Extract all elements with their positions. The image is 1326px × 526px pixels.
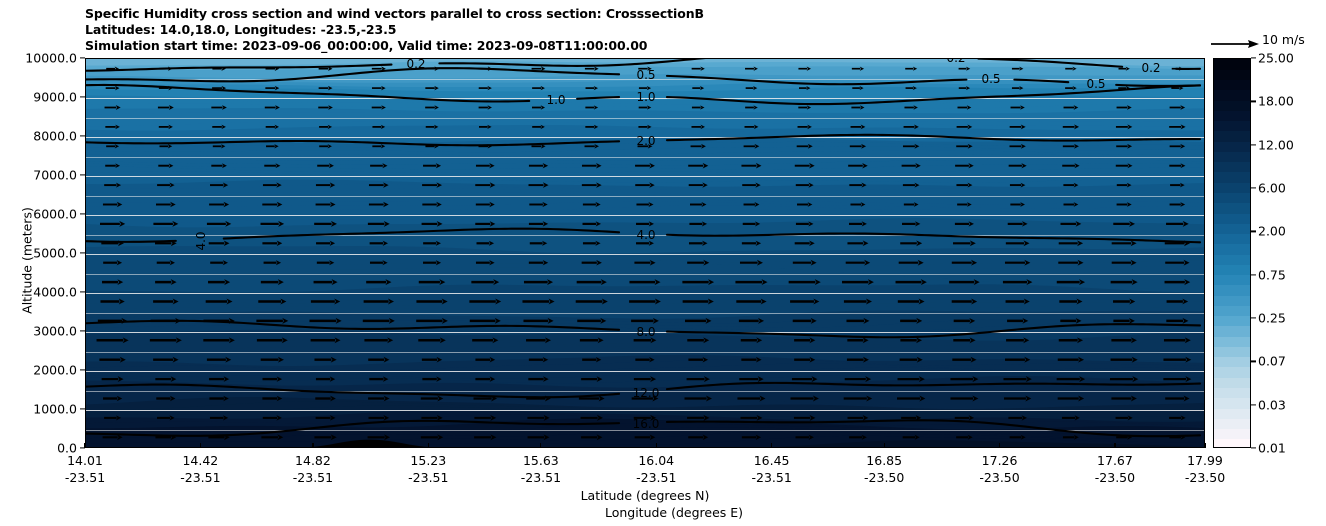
x-axis-tick: 15.23-23.51 <box>408 452 448 486</box>
x-axis-tick: 16.85-23.50 <box>864 452 904 486</box>
x-axis-tick-lat: 17.99 <box>1185 452 1225 469</box>
x-axis-tick-lat: 17.26 <box>979 452 1019 469</box>
colorbar-ticks: 0.010.030.070.250.752.006.0012.0018.0025… <box>1251 58 1326 448</box>
colorbar-tick-label: 0.03 <box>1258 397 1286 412</box>
x-axis-tick-mark <box>1204 443 1205 448</box>
x-axis-tick-mark <box>771 443 772 448</box>
colorbar-band <box>1214 69 1250 80</box>
y-axis-tick-mark <box>80 213 85 214</box>
x-axis-tick: 16.45-23.51 <box>751 452 791 486</box>
x-axis-tick-mark <box>884 443 885 448</box>
x-axis-tick: 14.82-23.51 <box>293 452 333 486</box>
colorbar-band <box>1214 131 1250 142</box>
colorbar-band <box>1214 213 1250 224</box>
colorbar-band <box>1214 172 1250 183</box>
x-axis-tick: 14.42-23.51 <box>180 452 220 486</box>
colorbar-band <box>1214 336 1250 347</box>
colorbar-tick-mark <box>1251 274 1256 275</box>
x-axis-tick-mark <box>1114 443 1115 448</box>
x-axis-tick-mark <box>540 443 541 448</box>
x-axis-tick-lon: -23.51 <box>180 469 220 486</box>
colorbar-band <box>1214 346 1250 357</box>
colorbar-band <box>1214 295 1250 306</box>
wind-key-label: 10 m/s <box>1262 32 1305 47</box>
colorbar-tick-mark <box>1251 317 1256 318</box>
x-axis-tick-lon: -23.50 <box>1095 469 1135 486</box>
y-axis-tick-label: 4000.0 <box>33 285 77 300</box>
colorbar-band <box>1214 428 1250 439</box>
y-axis-tick-mark <box>80 57 85 58</box>
colorbar-band <box>1214 398 1250 409</box>
colorbar-tick-label: 0.01 <box>1258 441 1286 456</box>
y-axis-tick-mark <box>80 135 85 136</box>
wind-vector-layer <box>86 59 1204 447</box>
colorbar-band <box>1214 192 1250 203</box>
colorbar-tick-label: 12.00 <box>1258 137 1294 152</box>
colorbar-tick-label: 25.00 <box>1258 51 1294 66</box>
colorbar-tick-mark <box>1251 187 1256 188</box>
x-axis-tick: 17.67-23.50 <box>1095 452 1135 486</box>
chart-title-block: Specific Humidity cross section and wind… <box>85 6 1205 55</box>
y-axis-tick-mark <box>80 408 85 409</box>
y-axis-tick-label: 2000.0 <box>33 363 77 378</box>
colorbar-tick-label: 18.00 <box>1258 94 1294 109</box>
y-axis: 0.01000.02000.03000.04000.05000.06000.07… <box>0 58 85 448</box>
x-axis-tick-lon: -23.50 <box>1185 469 1225 486</box>
y-axis-tick-label: 5000.0 <box>33 246 77 261</box>
colorbar-gradient <box>1213 58 1251 448</box>
y-axis-tick-label: 1000.0 <box>33 402 77 417</box>
colorbar-band <box>1214 233 1250 244</box>
y-axis-tick-mark <box>80 330 85 331</box>
colorbar-tick-label: 2.00 <box>1258 224 1286 239</box>
x-axis-tick-lon: -23.51 <box>408 469 448 486</box>
x-axis-tick-mark <box>999 443 1000 448</box>
x-axis-tick-lon: -23.50 <box>864 469 904 486</box>
y-axis-tick-mark <box>80 252 85 253</box>
x-axis-label-lon: Longitude (degrees E) <box>85 504 1205 521</box>
colorbar-band <box>1214 80 1250 91</box>
colorbar-tick-mark <box>1251 57 1256 58</box>
title-line-3: Simulation start time: 2023-09-06_00:00:… <box>85 38 1205 54</box>
wind-arrow-icon <box>1210 37 1260 51</box>
y-axis-tick-mark <box>80 174 85 175</box>
x-axis-tick-lat: 14.82 <box>293 452 333 469</box>
x-axis-tick-lon: -23.51 <box>521 469 561 486</box>
colorbar-tick-mark <box>1251 447 1256 448</box>
x-axis-tick-lat: 17.67 <box>1095 452 1135 469</box>
colorbar-band <box>1214 275 1250 286</box>
y-axis-tick-mark <box>80 96 85 97</box>
colorbar-band <box>1214 141 1250 152</box>
colorbar-band <box>1214 357 1250 368</box>
x-axis-tick-lat: 15.23 <box>408 452 448 469</box>
x-axis-tick-lon: -23.51 <box>293 469 333 486</box>
colorbar-band <box>1214 121 1250 132</box>
colorbar-tick-mark <box>1251 361 1256 362</box>
x-axis-tick-mark <box>200 443 201 448</box>
x-axis-tick-mark <box>428 443 429 448</box>
x-axis-labels: Latitude (degrees N) Longitude (degrees … <box>85 487 1205 521</box>
y-axis-tick-label: 6000.0 <box>33 207 77 222</box>
colorbar-band <box>1214 223 1250 234</box>
x-axis-tick-lon: -23.51 <box>65 469 105 486</box>
colorbar-band <box>1214 100 1250 111</box>
x-axis-tick-mark <box>84 443 85 448</box>
x-axis-tick: 17.26-23.50 <box>979 452 1019 486</box>
colorbar-band <box>1214 244 1250 255</box>
title-line-1: Specific Humidity cross section and wind… <box>85 6 1205 22</box>
y-axis-tick-label: 7000.0 <box>33 168 77 183</box>
x-axis-tick-lat: 15.63 <box>521 452 561 469</box>
x-axis-tick-lat: 16.04 <box>636 452 676 469</box>
colorbar-tick-label: 6.00 <box>1258 181 1286 196</box>
colorbar-tick-mark <box>1251 404 1256 405</box>
colorbar-tick-mark <box>1251 144 1256 145</box>
x-axis-tick: 14.01-23.51 <box>65 452 105 486</box>
colorbar-band <box>1214 203 1250 214</box>
colorbar-band <box>1214 377 1250 388</box>
x-axis-tick-lat: 14.01 <box>65 452 105 469</box>
x-axis-tick-lon: -23.51 <box>751 469 791 486</box>
colorbar-tick-label: 0.25 <box>1258 311 1286 326</box>
title-line-2: Latitudes: 14.0,18.0, Longitudes: -23.5,… <box>85 22 1205 38</box>
y-axis-tick-mark <box>80 291 85 292</box>
colorbar-band <box>1214 387 1250 398</box>
y-axis-tick-mark <box>80 369 85 370</box>
colorbar-tick-label: 0.75 <box>1258 267 1286 282</box>
colorbar-band <box>1214 264 1250 275</box>
y-axis-label: Altitude (meters) <box>20 96 35 426</box>
y-axis-tick-label: 10000.0 <box>25 51 77 66</box>
x-axis-tick-lat: 16.45 <box>751 452 791 469</box>
x-axis-tick-lon: -23.50 <box>979 469 1019 486</box>
colorbar-tick-mark <box>1251 231 1256 232</box>
colorbar-band <box>1214 254 1250 265</box>
colorbar-band <box>1214 162 1250 173</box>
colorbar-band <box>1214 326 1250 337</box>
colorbar-tick-mark <box>1251 101 1256 102</box>
cross-section-plot[interactable]: 0.20.20.20.50.50.51.01.02.04.04.08.012.0… <box>85 58 1205 448</box>
y-axis-tick-label: 8000.0 <box>33 129 77 144</box>
x-axis-label-lat: Latitude (degrees N) <box>85 487 1205 504</box>
colorbar-band <box>1214 367 1250 378</box>
colorbar-band <box>1214 285 1250 296</box>
colorbar-band <box>1214 182 1250 193</box>
colorbar-tick-label: 0.07 <box>1258 354 1286 369</box>
colorbar-band <box>1214 305 1250 316</box>
x-axis-tick-lon: -23.51 <box>636 469 676 486</box>
colorbar-band <box>1214 59 1250 70</box>
colorbar-band <box>1214 151 1250 162</box>
x-axis-tick: 15.63-23.51 <box>521 452 561 486</box>
colorbar[interactable]: 0.010.030.070.250.752.006.0012.0018.0025… <box>1213 58 1251 448</box>
y-axis-tick-label: 3000.0 <box>33 324 77 339</box>
colorbar-band <box>1214 90 1250 101</box>
colorbar-band <box>1214 110 1250 121</box>
colorbar-band <box>1214 316 1250 327</box>
colorbar-band <box>1214 418 1250 429</box>
y-axis-tick-label: 9000.0 <box>33 90 77 105</box>
colorbar-band <box>1214 439 1250 448</box>
x-axis-tick-mark <box>656 443 657 448</box>
x-axis-tick-lat: 16.85 <box>864 452 904 469</box>
x-axis-tick: 16.04-23.51 <box>636 452 676 486</box>
x-axis-tick-mark <box>312 443 313 448</box>
x-axis-tick: 17.99-23.50 <box>1185 452 1225 486</box>
x-axis-tick-lat: 14.42 <box>180 452 220 469</box>
colorbar-band <box>1214 408 1250 419</box>
